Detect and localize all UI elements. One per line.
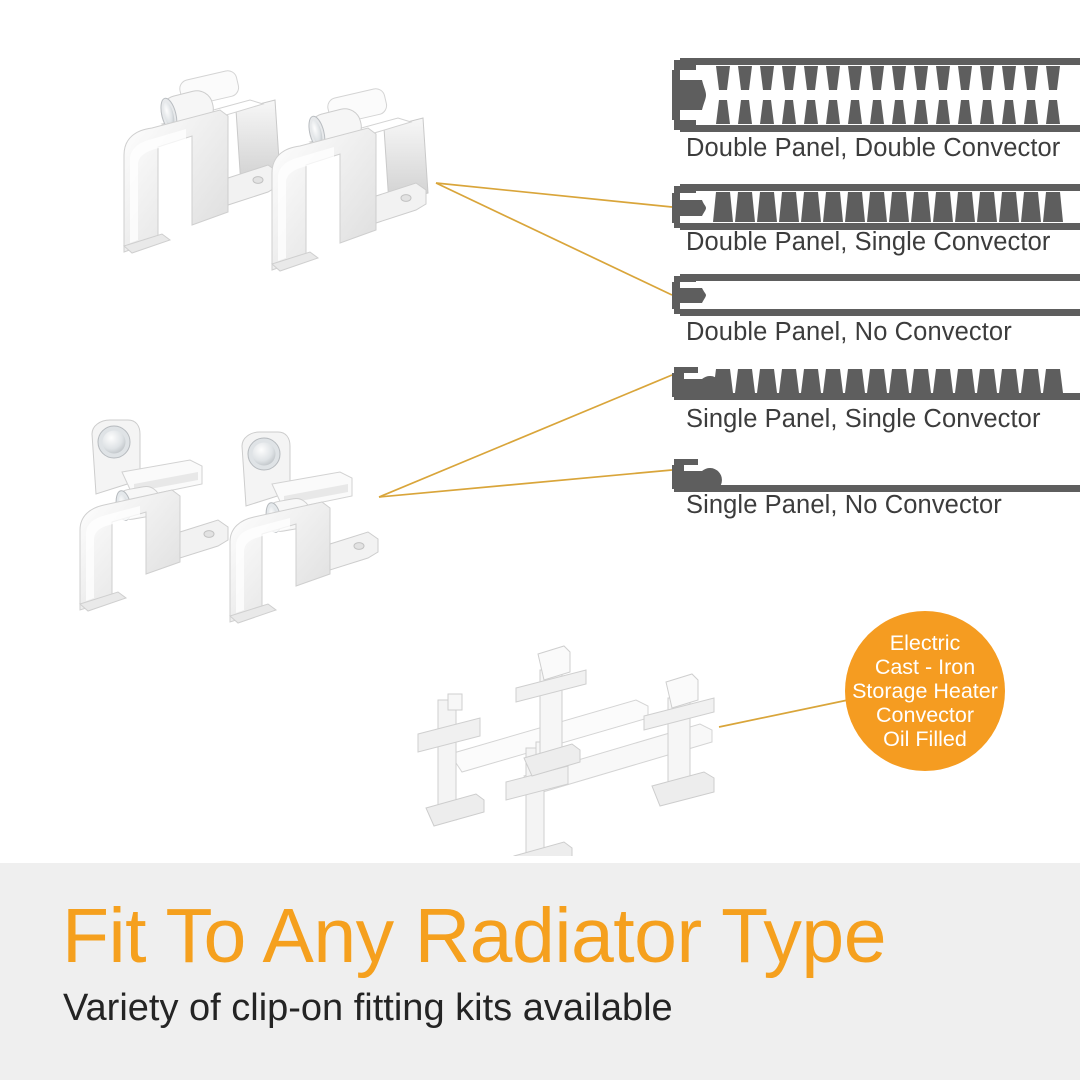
single-panel-single-convector-diagram xyxy=(672,363,1080,405)
other-radiator-types-badge: Electric Cast - Iron Storage Heater Conv… xyxy=(845,611,1005,771)
radiator-type-label-0: Double Panel, Double Convector xyxy=(686,134,1060,163)
double-panel-single-convector-diagram xyxy=(672,184,1080,230)
single-panel-bracket-kit-photo xyxy=(62,412,402,632)
double-panel-no-convector-diagram xyxy=(672,274,1080,316)
badge-line-1: Cast - Iron xyxy=(875,655,975,679)
badge-line-4: Oil Filled xyxy=(883,727,967,751)
infographic-canvas: Double Panel, Double Convector xyxy=(0,0,1080,1080)
universal-stand-bracket-kit-photo xyxy=(404,636,734,856)
radiator-type-double-panel-double-convector xyxy=(672,58,1080,137)
badge-line-2: Storage Heater xyxy=(852,679,998,703)
radiator-type-single-panel-single-convector xyxy=(672,363,1080,410)
double-panel-bracket-kit-photo xyxy=(100,60,450,290)
badge-line-3: Convector xyxy=(876,703,974,727)
bottom-banner: Fit To Any Radiator Type Variety of clip… xyxy=(0,863,1080,1080)
radiator-type-label-3: Single Panel, Single Convector xyxy=(686,405,1041,434)
radiator-type-label-1: Double Panel, Single Convector xyxy=(686,228,1050,257)
radiator-type-label-2: Double Panel, No Convector xyxy=(686,318,1012,347)
radiator-type-label-4: Single Panel, No Convector xyxy=(686,491,1002,520)
banner-subtitle: Variety of clip-on fitting kits availabl… xyxy=(63,987,673,1030)
badge-line-0: Electric xyxy=(890,631,960,655)
double-panel-double-convector-diagram xyxy=(672,58,1080,132)
banner-title: Fit To Any Radiator Type xyxy=(62,892,886,981)
radiator-type-double-panel-no-convector xyxy=(672,274,1080,321)
